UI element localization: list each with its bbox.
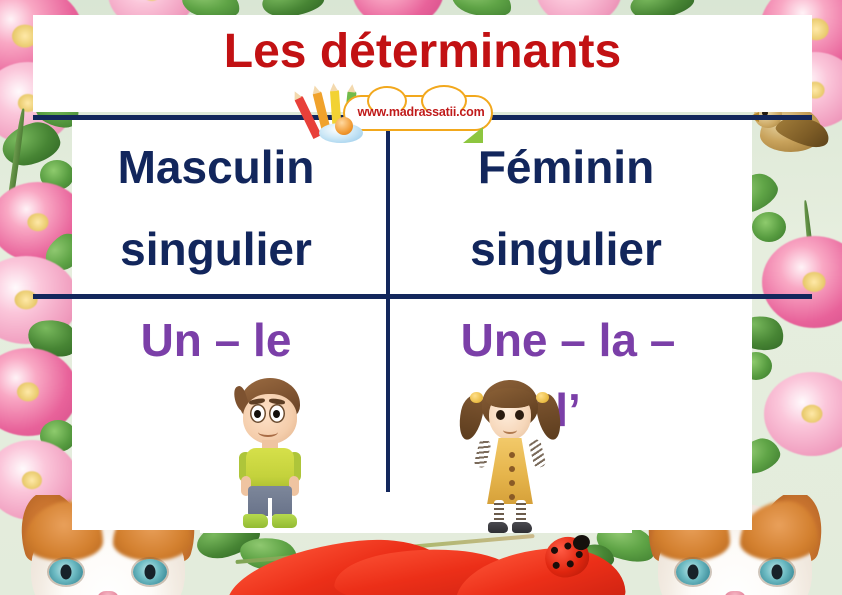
ladybug-spot [566, 560, 574, 568]
determiner-list-line: Une – la – [398, 305, 738, 375]
column-header-feminine: Féminin singulier [396, 126, 736, 290]
girl-shoe [512, 522, 532, 533]
girl-sleeve [473, 439, 491, 469]
girl-sleeve [528, 439, 546, 469]
flower-petal [453, 545, 627, 595]
girl-shoe [488, 522, 508, 533]
poster-canvas: Les déterminants Masculin singulier Fémi… [0, 0, 842, 595]
girl-dress-button [509, 494, 515, 500]
page-title: Les déterminants [33, 22, 812, 82]
cartoon-girl-illustration [462, 378, 558, 533]
boy-pants [248, 486, 292, 516]
boy-eye [250, 404, 266, 423]
column-values-feminine: Une – la – l’ [398, 305, 738, 445]
kitten-eye [676, 559, 710, 585]
determiner-list-line: Un – le [46, 305, 386, 375]
girl-dress-button [509, 452, 515, 458]
header-line-2: singulier [396, 208, 736, 290]
red-flower-decor [215, 523, 635, 595]
ladybug-spot [552, 561, 560, 569]
table-rule-middle [33, 294, 812, 299]
ladybug-spot [550, 546, 558, 554]
ladybug-spot [564, 542, 572, 550]
watermark-triangle-shape [463, 127, 483, 143]
kitten-eye [133, 559, 167, 585]
ladybug-head [571, 533, 591, 552]
girl-dress-button [509, 466, 515, 472]
flower-decor [762, 236, 842, 328]
header-line-2: singulier [46, 208, 386, 290]
flower-decor [764, 372, 842, 456]
watermark-url: www.madrassatii.com [357, 105, 485, 119]
girl-eye [515, 410, 524, 420]
girl-dress-button [509, 480, 515, 486]
kitten-nose [98, 591, 118, 595]
girl-eye [496, 410, 505, 420]
boy-shoe [272, 514, 297, 528]
watermark-accent-shape [335, 117, 353, 135]
column-header-masculine: Masculin singulier [46, 126, 386, 290]
girl-hair-tie [536, 392, 549, 403]
boy-eye [269, 404, 285, 423]
determiner-list-line: l’ [398, 375, 738, 445]
kitten-nose [725, 591, 745, 595]
boy-smile [258, 427, 278, 437]
kitten-eye [49, 559, 83, 585]
kitten-eye [760, 559, 794, 585]
girl-smile [503, 426, 517, 434]
ladybug-spot [575, 550, 583, 558]
table-divider-vertical [386, 131, 390, 492]
girl-bangs [486, 388, 534, 408]
girl-hair-tie [470, 392, 483, 403]
boy-shoe [243, 514, 268, 528]
site-watermark: www.madrassatii.com [305, 93, 495, 141]
leaf-decor [752, 212, 786, 242]
column-values-masculine: Un – le [46, 305, 386, 375]
cartoon-boy-illustration [222, 378, 318, 530]
